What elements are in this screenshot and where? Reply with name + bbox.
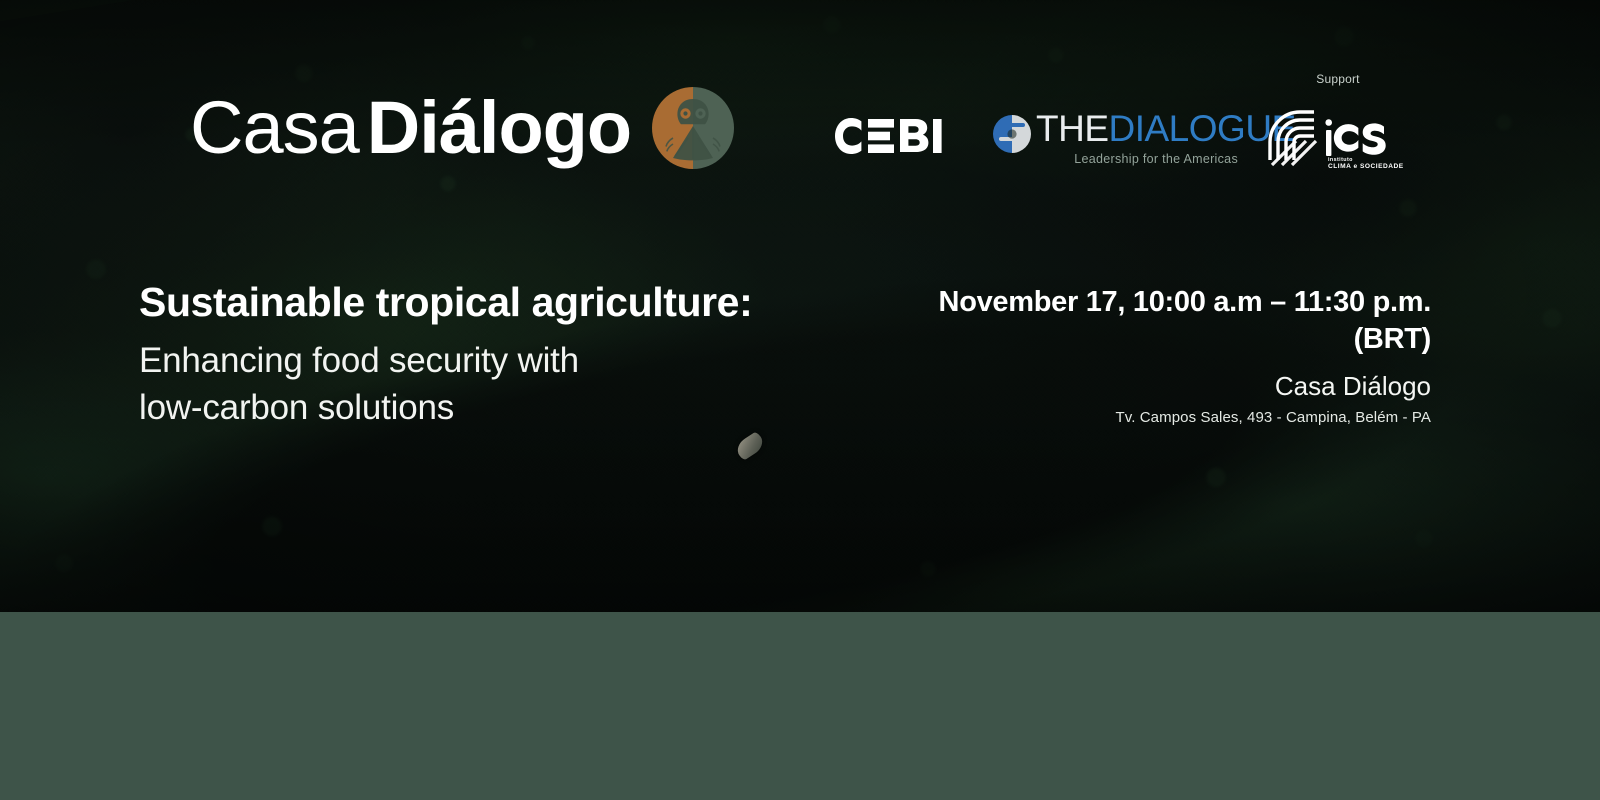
event-venue: Casa Diálogo — [911, 372, 1431, 401]
casa-dialogo-logo[interactable]: Casa Diálogo — [190, 86, 735, 170]
support-label: Support — [1268, 72, 1408, 86]
headline-block: Sustainable tropical agriculture: Enhanc… — [139, 278, 929, 431]
dialogue-the: THE — [1036, 108, 1109, 149]
event-banner: Casa Diálogo — [0, 0, 1600, 800]
hero-subtitle-line2: low-carbon solutions — [139, 388, 454, 427]
event-datetime: November 17, 10:00 a.m – 11:30 p.m. (BRT… — [911, 284, 1431, 358]
event-address: Tv. Campos Sales, 493 - Campina, Belém -… — [911, 409, 1431, 426]
dialogue-wordmark: THEDIALOGUE — [1036, 108, 1296, 150]
footer-section: SPONSORS CASA DIÁLOGO — [0, 612, 1600, 800]
brand-name-light: Casa — [190, 91, 359, 165]
support-block: Support — [1268, 72, 1408, 86]
hero-subtitle: Enhancing food security with low-carbon … — [139, 338, 929, 431]
logo-row: Casa Diálogo — [0, 0, 1600, 200]
ics-logo-icon[interactable]: instituto CLIMA e SOCIEDADE — [1266, 108, 1394, 170]
hero-section: Casa Diálogo — [0, 0, 1600, 612]
the-dialogue-logo-icon[interactable]: THEDIALOGUE Leadership for the Americas — [992, 108, 1240, 178]
event-info-block: November 17, 10:00 a.m – 11:30 p.m. (BRT… — [911, 284, 1431, 426]
brand-name-bold: Diálogo — [367, 91, 631, 165]
dialogue-mark-icon — [992, 114, 1032, 154]
svg-text:CLIMA e SOCIEDADE: CLIMA e SOCIEDADE — [1328, 163, 1404, 170]
owl-mascot-icon — [651, 86, 735, 170]
hero-subtitle-line1: Enhancing food security with — [139, 341, 579, 380]
cebri-logo-icon[interactable] — [828, 112, 956, 160]
dialogue-tagline: Leadership for the Americas — [1074, 152, 1238, 166]
hero-title: Sustainable tropical agriculture: — [139, 278, 929, 326]
